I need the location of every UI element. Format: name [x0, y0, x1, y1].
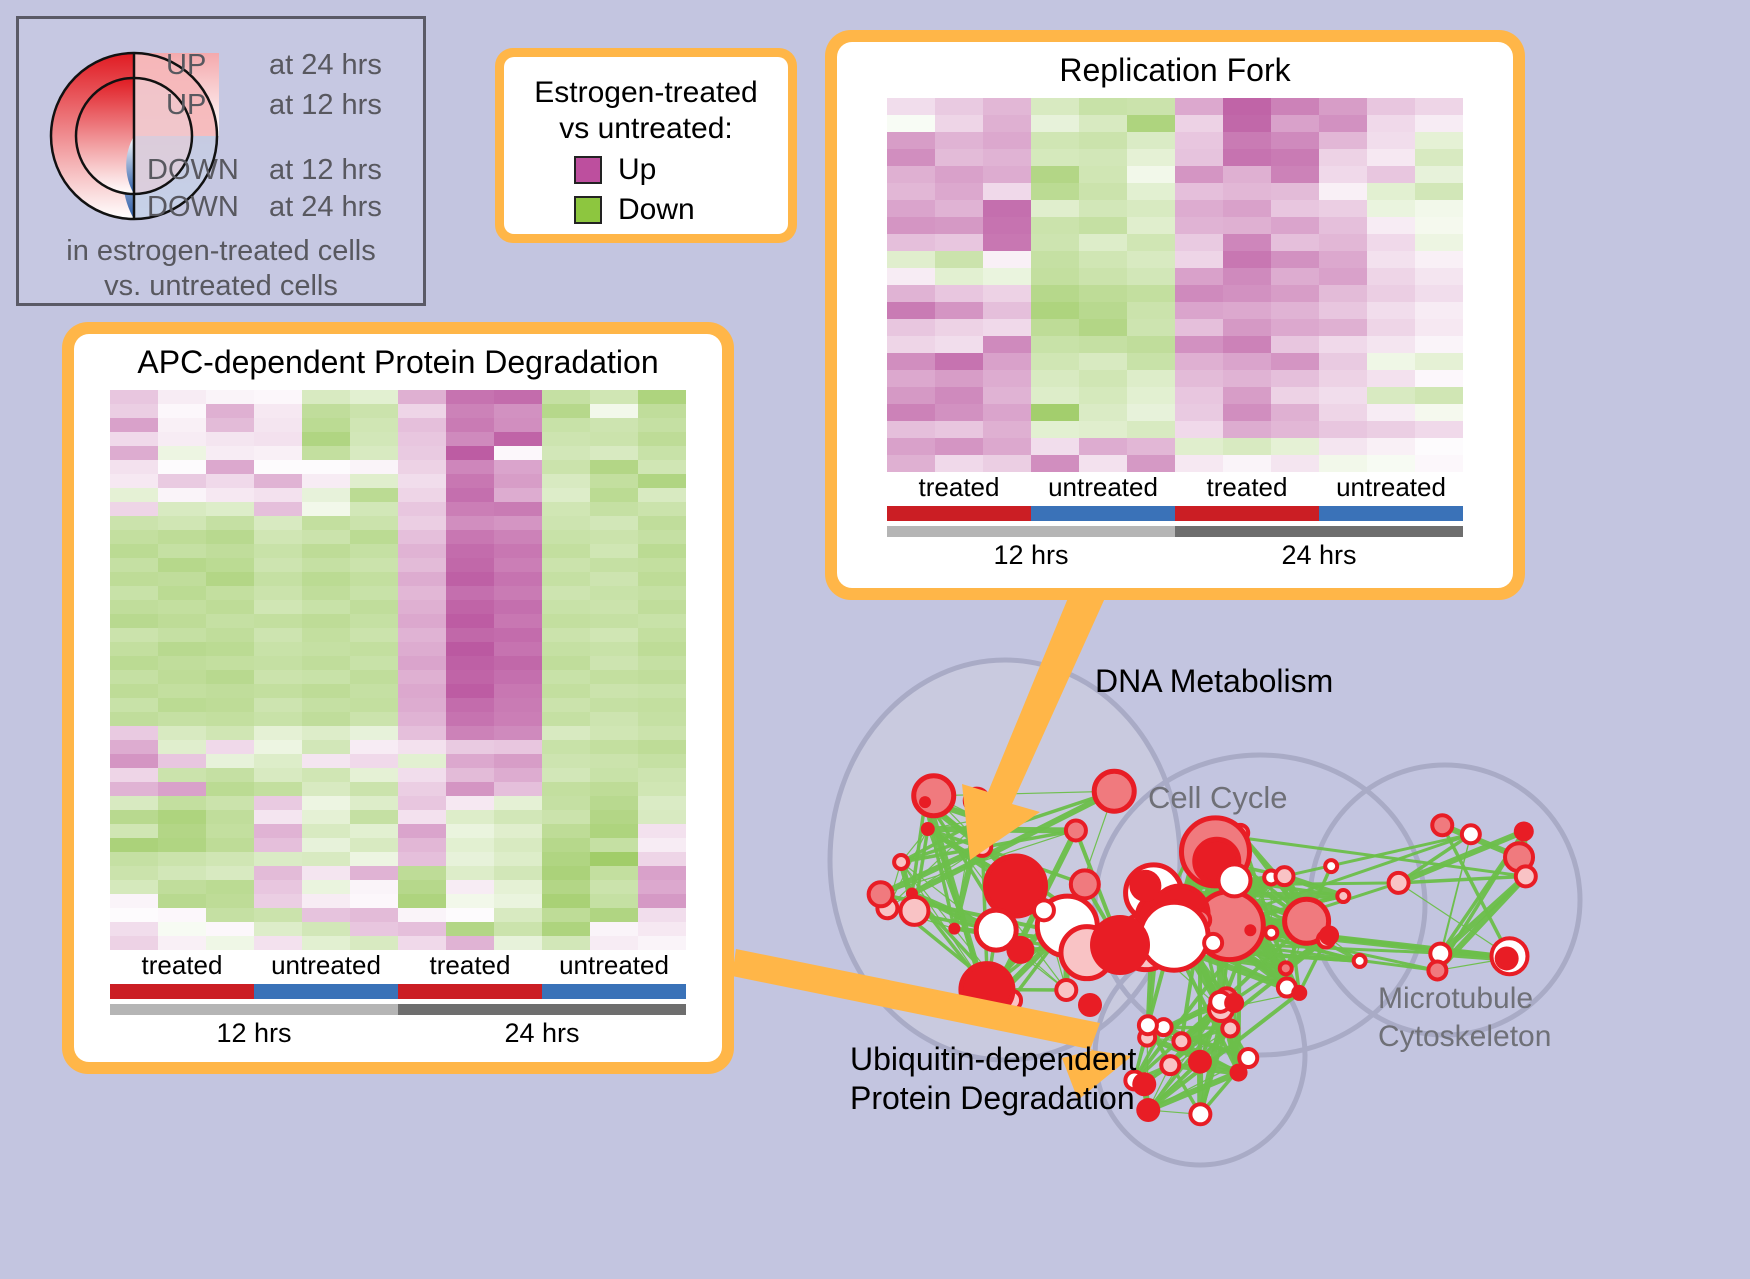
network-node — [1354, 955, 1366, 967]
heatmap-cell — [542, 628, 590, 642]
heatmap-cell — [1031, 200, 1079, 217]
heatmap-cell — [887, 183, 935, 200]
heatmap-cell — [1127, 285, 1175, 302]
network-node — [914, 776, 954, 816]
heatmap-cell — [302, 628, 350, 642]
heatmap-cell — [1319, 251, 1367, 268]
heatmap-cell — [590, 810, 638, 824]
heatmap-cell — [158, 642, 206, 656]
heatmap-cell — [542, 432, 590, 446]
heatmap-cell — [1127, 217, 1175, 234]
panel-apc-degradation: APC-dependent Protein Degradation treate… — [62, 322, 734, 1074]
heatmap-cell — [590, 866, 638, 880]
key-label-up-12: UP — [166, 89, 206, 122]
heatmap-cell — [887, 353, 935, 370]
heatmap-cell — [638, 656, 686, 670]
heatmap-cell — [158, 824, 206, 838]
heatmap-cell — [1367, 404, 1415, 421]
heatmap-cell — [158, 698, 206, 712]
cluster-label-cell-cycle: Cell Cycle — [1148, 780, 1288, 816]
heatmap-cell — [494, 740, 542, 754]
heatmap-cell — [206, 894, 254, 908]
heatmap-cell — [1175, 132, 1223, 149]
heatmap-cell — [1415, 302, 1463, 319]
heatmap-cell — [1031, 302, 1079, 319]
heatmap-cell — [1415, 421, 1463, 438]
heatmap-cell — [1319, 234, 1367, 251]
heatmap-cell — [590, 600, 638, 614]
heatmap-cell — [1367, 353, 1415, 370]
heatmap-cell — [590, 852, 638, 866]
heatmap-cell — [446, 558, 494, 572]
heatmap-cell — [350, 586, 398, 600]
color-key-box: UP at 24 hrs UP at 12 hrs DOWN at 12 hrs… — [16, 16, 426, 306]
heatmap-cell — [1271, 353, 1319, 370]
heatmap-cell — [302, 880, 350, 894]
heatmap-cell — [590, 586, 638, 600]
heatmap-cell — [398, 768, 446, 782]
heatmap-cell — [1127, 149, 1175, 166]
heatmap-cell — [110, 656, 158, 670]
heatmap-cell — [158, 852, 206, 866]
heatmap-cell — [254, 754, 302, 768]
heatmap-cell — [446, 796, 494, 810]
heatmap-cell — [935, 455, 983, 472]
heatmap-cell — [302, 908, 350, 922]
heatmap-cell — [158, 866, 206, 880]
heatmap-cell — [1127, 455, 1175, 472]
heatmap-cell — [254, 600, 302, 614]
heatmap-cell — [110, 922, 158, 936]
heatmap-cell — [1415, 336, 1463, 353]
heatmap-cell — [398, 712, 446, 726]
heatmap-cell — [590, 712, 638, 726]
heatmap-cell — [158, 740, 206, 754]
heatmap-cell — [1031, 98, 1079, 115]
heatmap-cell — [542, 642, 590, 656]
heatmap-cell — [446, 810, 494, 824]
heatmap-cell — [1175, 438, 1223, 455]
heatmap-cell — [110, 488, 158, 502]
heatmap-cell — [542, 530, 590, 544]
heatmap-cell — [887, 268, 935, 285]
heatmap-cell — [350, 824, 398, 838]
heatmap-cell — [206, 502, 254, 516]
heatmap-cell — [302, 740, 350, 754]
heatmap-cell — [206, 726, 254, 740]
heatmap-cell — [1223, 217, 1271, 234]
treatment-bar-segment — [1031, 506, 1175, 521]
heatmap-cell — [1127, 183, 1175, 200]
heatmap-cell — [638, 894, 686, 908]
heatmap-cell — [158, 894, 206, 908]
heatmap-cell — [1127, 251, 1175, 268]
heatmap-cell — [206, 474, 254, 488]
heatmap-cell — [983, 353, 1031, 370]
heatmap-cell — [158, 768, 206, 782]
heatmap-cell — [350, 670, 398, 684]
heatmap-cell — [446, 712, 494, 726]
cluster-label-ubiquitin-degradation: Ubiquitin-dependent Protein Degradation — [850, 1040, 1136, 1118]
heatmap-cell — [590, 642, 638, 656]
network-node — [948, 923, 960, 935]
heatmap-cell — [350, 698, 398, 712]
group-label: untreated — [1319, 472, 1463, 503]
heatmap-cell — [254, 530, 302, 544]
heatmap-cell — [302, 726, 350, 740]
heatmap-cell — [542, 544, 590, 558]
heatmap-cell — [1319, 149, 1367, 166]
heatmap-cell — [1223, 438, 1271, 455]
heatmap-cell — [638, 404, 686, 418]
microtubule-line-1: Microtubule — [1378, 980, 1551, 1018]
heatmap-cell — [1223, 302, 1271, 319]
heatmap-cell — [398, 614, 446, 628]
heatmap-cell — [887, 370, 935, 387]
heatmap-cell — [254, 516, 302, 530]
heatmap-cell — [1127, 200, 1175, 217]
heatmap-cell — [110, 936, 158, 950]
heatmap-cell — [1079, 132, 1127, 149]
network-node — [1389, 873, 1409, 893]
heatmap-cell — [254, 642, 302, 656]
heatmap-cell — [542, 880, 590, 894]
treatment-bar-segment — [542, 984, 686, 999]
heatmap-cell — [446, 754, 494, 768]
heatmap-cell — [446, 460, 494, 474]
heatmap-cell — [446, 628, 494, 642]
heatmap-cell — [302, 544, 350, 558]
heatmap-cell — [1223, 268, 1271, 285]
heatmap-cell — [158, 670, 206, 684]
heatmap-cell — [1031, 370, 1079, 387]
network-node — [1056, 980, 1076, 1000]
heatmap-cell — [542, 474, 590, 488]
heatmap-cell — [638, 824, 686, 838]
heatmap-cell — [206, 866, 254, 880]
heatmap-cell — [398, 782, 446, 796]
heatmap-cell — [206, 432, 254, 446]
heatmap-cell — [254, 698, 302, 712]
heatmap-cell — [302, 656, 350, 670]
network-node — [965, 789, 989, 813]
group-label: untreated — [254, 950, 398, 981]
heatmap-cell — [1271, 421, 1319, 438]
heatmap-cell — [110, 474, 158, 488]
heatmap-cell — [1415, 98, 1463, 115]
heatmap-cell — [1415, 404, 1463, 421]
heatmap-cell — [887, 115, 935, 132]
heatmap-cell — [638, 432, 686, 446]
network-node — [1325, 860, 1337, 872]
heatmap-cell — [638, 754, 686, 768]
panel-title-apc: APC-dependent Protein Degradation — [137, 344, 658, 381]
heatmap-cell — [638, 768, 686, 782]
heatmap-cell — [350, 852, 398, 866]
heatmap-cell — [350, 838, 398, 852]
heatmap-cell — [110, 600, 158, 614]
heatmap-cell — [206, 838, 254, 852]
heatmap-cell — [638, 838, 686, 852]
heatmap-cell — [302, 572, 350, 586]
heatmap-cell — [1079, 387, 1127, 404]
heatmap-cell — [1415, 455, 1463, 472]
heatmap-cell — [350, 600, 398, 614]
heatmap-cell — [158, 418, 206, 432]
heatmap-cell — [638, 740, 686, 754]
heatmap-cell — [1415, 217, 1463, 234]
treatment-color-bar — [887, 506, 1463, 521]
heatmap-cell — [302, 600, 350, 614]
heatmap-cell — [638, 782, 686, 796]
heatmap-cell — [494, 866, 542, 880]
heatmap-cell — [1175, 302, 1223, 319]
network-node — [1136, 1098, 1160, 1122]
heatmap-cell — [254, 656, 302, 670]
heatmap-cell — [494, 544, 542, 558]
heatmap-cell — [350, 530, 398, 544]
network-node — [1188, 1050, 1212, 1074]
heatmap-cell — [158, 530, 206, 544]
heatmap-cell — [158, 684, 206, 698]
heatmap-cell — [110, 880, 158, 894]
heatmap-cell — [302, 586, 350, 600]
heatmap-cell — [254, 488, 302, 502]
heatmap-cell — [206, 880, 254, 894]
heatmap-cell — [983, 217, 1031, 234]
heatmap-cell — [494, 516, 542, 530]
heatmap-cell — [302, 768, 350, 782]
heatmap-cell — [590, 936, 638, 950]
heatmap-cell — [542, 866, 590, 880]
heatmap-cell — [446, 544, 494, 558]
heatmap-cell — [983, 234, 1031, 251]
heatmap-cell — [638, 586, 686, 600]
heatmap-cell — [983, 268, 1031, 285]
heatmap-cell — [1367, 455, 1415, 472]
heatmap-cell — [1271, 438, 1319, 455]
heatmap-cell — [590, 572, 638, 586]
heatmap-cell — [1175, 115, 1223, 132]
heatmap-cell — [446, 642, 494, 656]
heatmap-cell — [206, 642, 254, 656]
heatmap-cell — [254, 446, 302, 460]
heatmap-cell — [110, 628, 158, 642]
heatmap-cell — [542, 894, 590, 908]
heatmap-cell — [935, 251, 983, 268]
heatmap-cell — [1367, 149, 1415, 166]
heatmap-cell — [1319, 183, 1367, 200]
heatmap-cell — [590, 390, 638, 404]
heatmap-cell — [254, 432, 302, 446]
heatmap-cell — [494, 922, 542, 936]
time-color-bar — [887, 526, 1463, 537]
heatmap-cell — [1175, 200, 1223, 217]
heatmap-cell — [1175, 183, 1223, 200]
heatmap-cell — [1079, 438, 1127, 455]
heatmap-cell — [350, 726, 398, 740]
heatmap-cell — [935, 217, 983, 234]
heatmap-cell — [494, 908, 542, 922]
heatmap-cell — [1271, 217, 1319, 234]
heatmap-cell — [158, 712, 206, 726]
heatmap-cell — [887, 404, 935, 421]
heatmap-cell — [542, 404, 590, 418]
heatmap-cell — [1175, 149, 1223, 166]
heatmap-cell — [254, 390, 302, 404]
heatmap-cell — [1271, 319, 1319, 336]
heatmap-cell — [983, 149, 1031, 166]
heatmap-cell — [1415, 387, 1463, 404]
heatmap-cell — [206, 460, 254, 474]
heatmap-cell — [494, 460, 542, 474]
heatmap-cell — [110, 572, 158, 586]
heatmap-cell — [1031, 353, 1079, 370]
heatmap-cell — [1223, 132, 1271, 149]
treatment-bar-segment — [398, 984, 542, 999]
time-label: 24 hrs — [1175, 540, 1463, 571]
heatmap-cell — [1319, 200, 1367, 217]
heatmap-cell — [254, 572, 302, 586]
axis-replication-fork: treateduntreatedtreateduntreated12 hrs24… — [887, 472, 1463, 571]
heatmap-cell — [206, 768, 254, 782]
heatmap-cell — [1223, 115, 1271, 132]
heatmap-cell — [446, 894, 494, 908]
heatmap-cell — [590, 922, 638, 936]
heatmap-cell — [254, 460, 302, 474]
heatmap-cell — [935, 166, 983, 183]
heatmap-cell — [110, 824, 158, 838]
heatmap-cell — [206, 600, 254, 614]
network-node — [1094, 771, 1134, 811]
ubiquitin-line-2: Protein Degradation — [850, 1079, 1136, 1118]
heatmap-cell — [302, 866, 350, 880]
heatmap-cell — [590, 432, 638, 446]
heatmap-cell — [1319, 353, 1367, 370]
heatmap-cell — [302, 460, 350, 474]
heatmap-cell — [302, 936, 350, 950]
heatmap-cell — [1367, 387, 1415, 404]
network-node — [1071, 870, 1099, 898]
heatmap-cell — [935, 149, 983, 166]
heatmap-cell — [398, 572, 446, 586]
heatmap-cell — [638, 446, 686, 460]
heatmap-cell — [398, 726, 446, 740]
heatmap-cell — [158, 614, 206, 628]
heatmap-cell — [887, 234, 935, 251]
heatmap-cell — [302, 390, 350, 404]
heatmap-cell — [446, 404, 494, 418]
heatmap-cell — [935, 404, 983, 421]
heatmap-cell — [1367, 421, 1415, 438]
heatmap-cell — [1271, 183, 1319, 200]
heatmap-cell — [1367, 217, 1415, 234]
heatmap-cell — [110, 418, 158, 432]
heatmap-cell — [1127, 438, 1175, 455]
heatmap-cell — [1175, 336, 1223, 353]
heatmap-cell — [887, 200, 935, 217]
axis-apc: treateduntreatedtreateduntreated12 hrs24… — [110, 950, 686, 1049]
heatmap-cell — [398, 866, 446, 880]
heatmap-cell — [350, 418, 398, 432]
heatmap-cell — [590, 460, 638, 474]
time-color-bar — [110, 1004, 686, 1015]
heatmap-cell — [110, 642, 158, 656]
heatmap-cell — [398, 838, 446, 852]
heatmap-cell — [302, 810, 350, 824]
heatmap-cell — [398, 404, 446, 418]
heatmap-cell — [494, 530, 542, 544]
heatmap-cell — [206, 936, 254, 950]
heatmap-cell — [158, 656, 206, 670]
heatmap-cell — [446, 824, 494, 838]
heatmap-cell — [1031, 387, 1079, 404]
heatmap-cell — [590, 446, 638, 460]
heatmap-cell — [1175, 98, 1223, 115]
heatmap-cell — [1175, 404, 1223, 421]
heatmap-cell — [590, 670, 638, 684]
heatmap-cell — [350, 866, 398, 880]
network-node — [1190, 1104, 1210, 1124]
cluster-label-microtubule-cytoskeleton: Microtubule Cytoskeleton — [1378, 980, 1551, 1055]
heatmap-cell — [590, 782, 638, 796]
heatmap-cell — [1319, 132, 1367, 149]
network-node — [1224, 993, 1244, 1013]
heatmap-cell — [302, 796, 350, 810]
heatmap-cell — [398, 488, 446, 502]
heatmap-cell — [1319, 421, 1367, 438]
heatmap-cell — [398, 628, 446, 642]
heatmap-cell — [158, 474, 206, 488]
heatmap-cell — [1127, 370, 1175, 387]
heatmap-cell — [983, 370, 1031, 387]
heatmap-cell — [590, 474, 638, 488]
heatmap-cell — [446, 614, 494, 628]
heatmap-cell — [350, 894, 398, 908]
heatmap-cell — [1415, 319, 1463, 336]
heatmap-cell — [206, 698, 254, 712]
heatmap-cell — [302, 838, 350, 852]
heatmap-cell — [206, 824, 254, 838]
network-node — [1173, 1033, 1189, 1049]
heatmap-cell — [1031, 183, 1079, 200]
heatmap-cell — [158, 446, 206, 460]
heatmap-cell — [935, 370, 983, 387]
heatmap-cell — [1031, 115, 1079, 132]
heatmap-cell — [1319, 370, 1367, 387]
legend-label-up: Up — [618, 153, 656, 187]
heatmap-cell — [302, 852, 350, 866]
heatmap-cell — [350, 880, 398, 894]
heatmap-cell — [590, 698, 638, 712]
heatmap-cell — [1271, 98, 1319, 115]
key-label-down-12: DOWN — [147, 154, 239, 187]
heatmap-cell — [110, 446, 158, 460]
heatmap-cell — [1031, 217, 1079, 234]
network-node — [894, 855, 908, 869]
heatmap-cell — [1319, 166, 1367, 183]
time-label: 12 hrs — [887, 540, 1175, 571]
heatmap-cell — [638, 880, 686, 894]
treatment-bar-segment — [110, 984, 254, 999]
heatmap-cell — [398, 544, 446, 558]
heatmap-cell — [1367, 183, 1415, 200]
heatmap-cell — [446, 922, 494, 936]
heatmap-cell — [350, 712, 398, 726]
heatmap-cell — [542, 852, 590, 866]
heatmap-cell — [206, 446, 254, 460]
heatmap-cell — [494, 572, 542, 586]
